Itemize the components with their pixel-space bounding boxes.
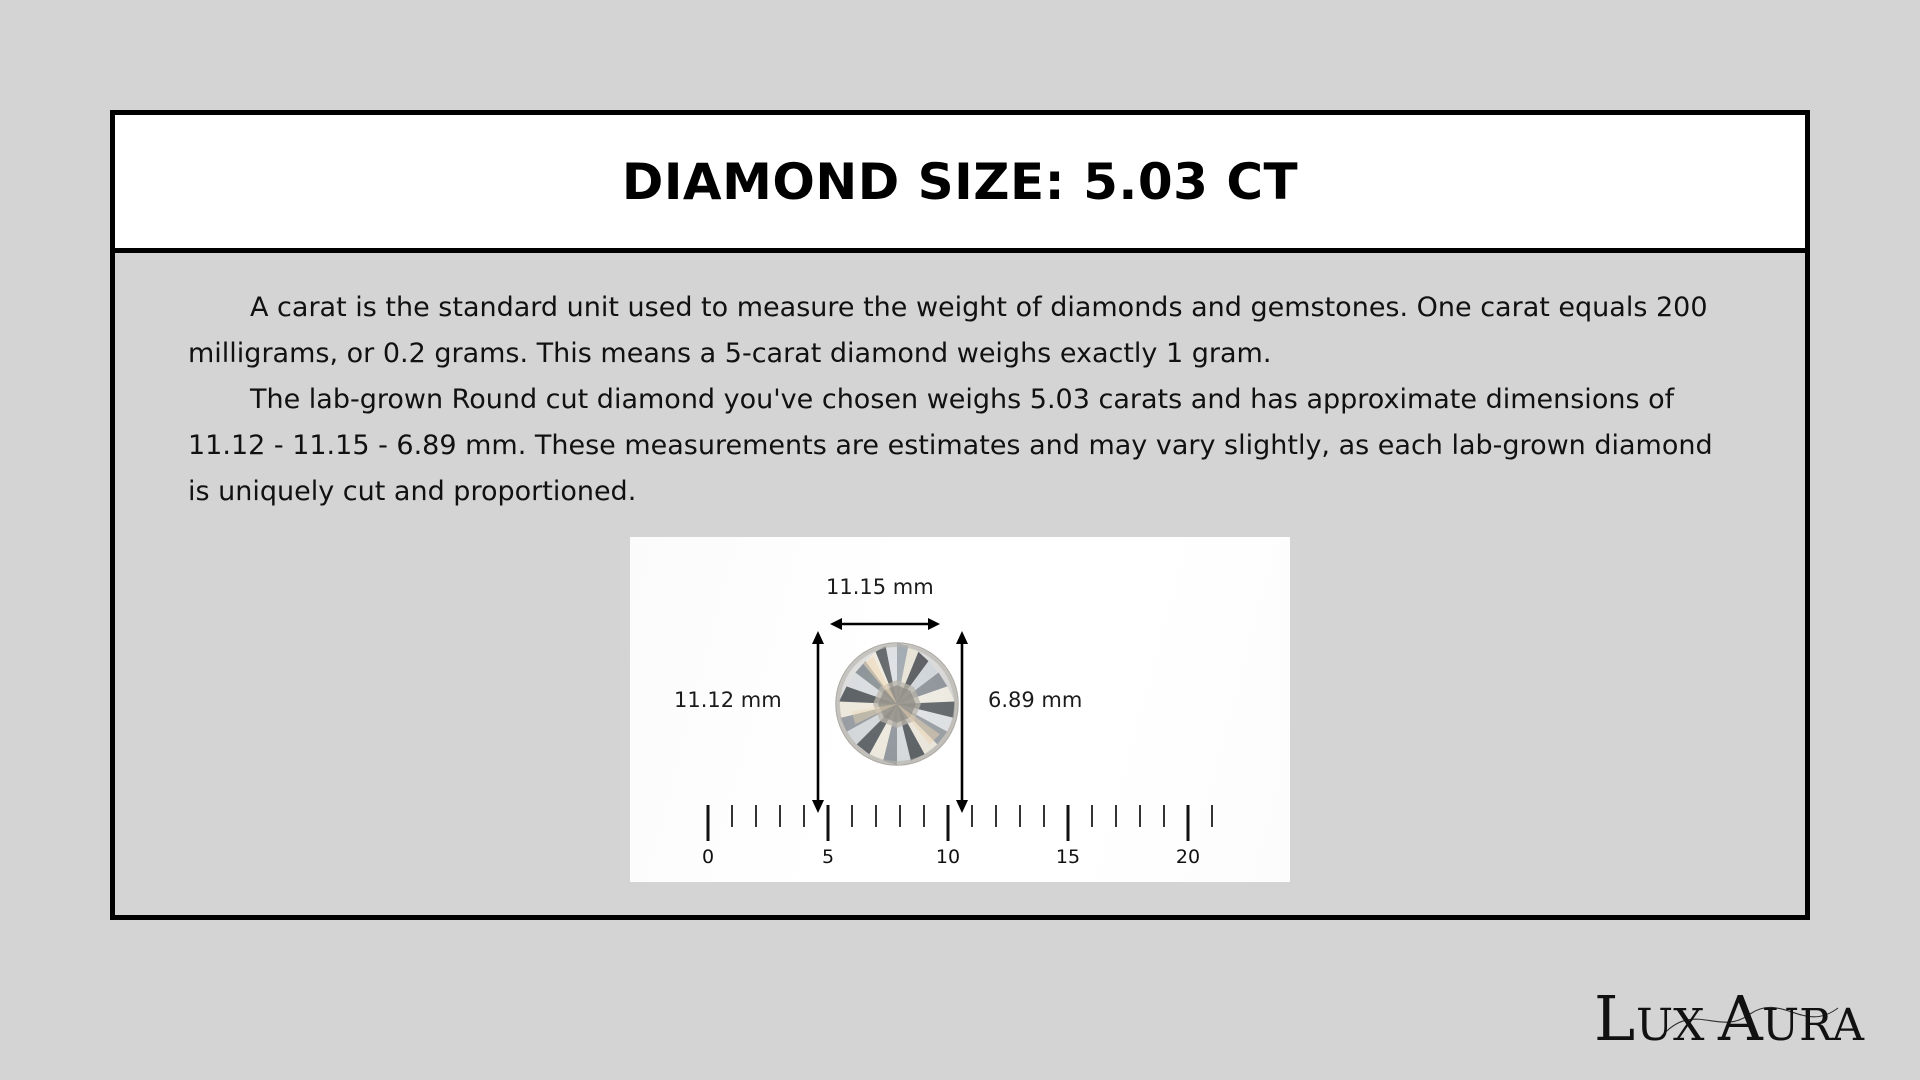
diamond-size-card: DIAMOND SIZE: 5.03 CT A carat is the sta…: [110, 110, 1810, 920]
svg-text:5: 5: [822, 846, 834, 868]
left-vertical-double-arrow-icon: [807, 631, 829, 813]
luxaura-logo: L UX A URA: [1590, 974, 1890, 1058]
diamond-dimension-figure: 11.15 mm 11.12 mm 6.89 mm: [630, 537, 1290, 882]
page-title: DIAMOND SIZE: 5.03 CT: [622, 153, 1298, 211]
logo-letter-a: A: [1717, 982, 1764, 1055]
width-measurement-label: 11.15 mm: [826, 575, 934, 599]
svg-text:0: 0: [702, 846, 714, 868]
round-brilliant-diamond-image: [834, 641, 960, 767]
depth-measurement-label: 6.89 mm: [988, 688, 1082, 712]
logo-letters-ux: UX: [1636, 1000, 1705, 1051]
svg-text:20: 20: [1176, 846, 1200, 868]
svg-text:10: 10: [936, 846, 960, 868]
page-root: DIAMOND SIZE: 5.03 CT A carat is the sta…: [0, 0, 1920, 1080]
paragraph-carat-definition: A carat is the standard unit used to mea…: [188, 285, 1732, 377]
card-body: A carat is the standard unit used to mea…: [115, 253, 1805, 915]
svg-text:15: 15: [1056, 846, 1080, 868]
logo-letter-l: L: [1594, 982, 1635, 1055]
length-measurement-label: 11.12 mm: [674, 688, 782, 712]
paragraph-diamond-details: The lab-grown Round cut diamond you've c…: [188, 377, 1732, 515]
card-header: DIAMOND SIZE: 5.03 CT: [115, 115, 1805, 253]
horizontal-double-arrow-icon: [830, 613, 940, 635]
description-text: A carat is the standard unit used to mea…: [160, 285, 1760, 515]
millimeter-ruler: 05101520: [690, 795, 1230, 871]
